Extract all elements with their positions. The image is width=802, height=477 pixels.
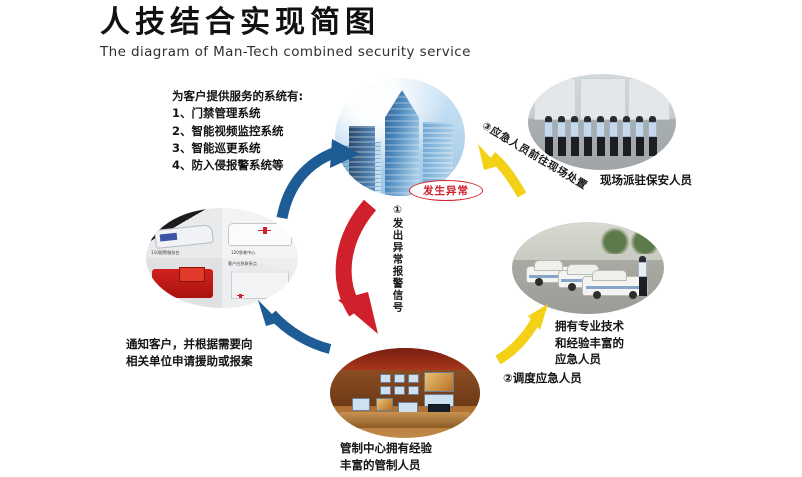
guard-figure [557, 116, 566, 156]
guard-figure [596, 116, 605, 156]
page-title-en: The diagram of Man-Tech combined securit… [100, 44, 620, 60]
tile-relief-label: 客户应急联系点 [228, 261, 257, 266]
guard-figure [583, 116, 592, 156]
guard-figure [635, 116, 644, 156]
building-tower-main [385, 90, 419, 196]
background-building-3 [628, 78, 670, 120]
guard-figure [648, 116, 657, 156]
node-emergency-vehicles [512, 222, 664, 314]
operator-monitor [352, 398, 370, 411]
guard-figure [570, 116, 579, 156]
background-building-2 [580, 78, 626, 120]
relief-tent [231, 271, 289, 299]
tile-police: 110报警服务台 [146, 208, 222, 258]
tree-foliage [598, 224, 632, 254]
wall-monitor [408, 374, 419, 383]
guard-figure [622, 116, 631, 156]
ambulance [228, 223, 292, 246]
building-tower-left [349, 126, 375, 196]
guard-figure [609, 116, 618, 156]
page-title-cn: 人技结合实现简图 [100, 4, 620, 42]
caption-emergency-staff: 拥有专业技术 和经验丰富的 应急人员 [555, 318, 624, 368]
police-car [154, 224, 214, 249]
guard-figure [544, 116, 553, 156]
service-system-list: 为客户提供服务的系统有: 1、门禁管理系统 2、智能视频监控系统 3、智能巡更系… [172, 88, 303, 174]
node-client-building [335, 78, 465, 196]
wall-monitor [380, 374, 391, 383]
wall-monitor [380, 386, 391, 395]
caption-notify-client: 通知客户，并根据需要向 相关单位申请援助或报案 [126, 336, 253, 369]
caption-control-center: 管制中心拥有经验 丰富的管制人员 [340, 440, 432, 473]
status-badge-abnormal: 发生异常 [409, 180, 483, 201]
officer-figure [638, 256, 647, 296]
wall-monitor [394, 386, 405, 395]
control-room-ceiling [330, 348, 480, 370]
tile-relief-tent: 客户应急联系点 [222, 258, 298, 308]
control-desk [339, 412, 471, 428]
caption-onsite-guards: 现场派驻保安人员 [600, 172, 692, 189]
step-2-label: ②调度应急人员 [503, 370, 582, 387]
tile-police-label: 110报警服务台 [151, 250, 180, 255]
tree-foliage [628, 224, 662, 254]
wall-monitor [408, 386, 419, 395]
wall-monitor [394, 374, 405, 383]
tile-ambulance-label: 120急救中心 [231, 250, 255, 255]
tile-fire [146, 258, 222, 308]
fire-truck [152, 269, 213, 298]
tile-ambulance: 120急救中心 [222, 208, 298, 258]
video-wall-large [424, 372, 454, 392]
background-building-1 [534, 78, 576, 120]
title-block: 人技结合实现简图 The diagram of Man-Tech combine… [100, 4, 620, 60]
node-control-center [330, 348, 480, 438]
step-1-label: ①发出异常报警信号 [392, 204, 403, 314]
arrow-yellow-dispatch [498, 304, 548, 360]
operator-monitor [376, 398, 393, 411]
diagram-canvas: 人技结合实现简图 The diagram of Man-Tech combine… [0, 0, 802, 477]
arrow-red-alarm-signal [338, 205, 378, 334]
node-external-agencies: 110报警服务台 120急救中心 客户应急联系点 [146, 208, 298, 308]
